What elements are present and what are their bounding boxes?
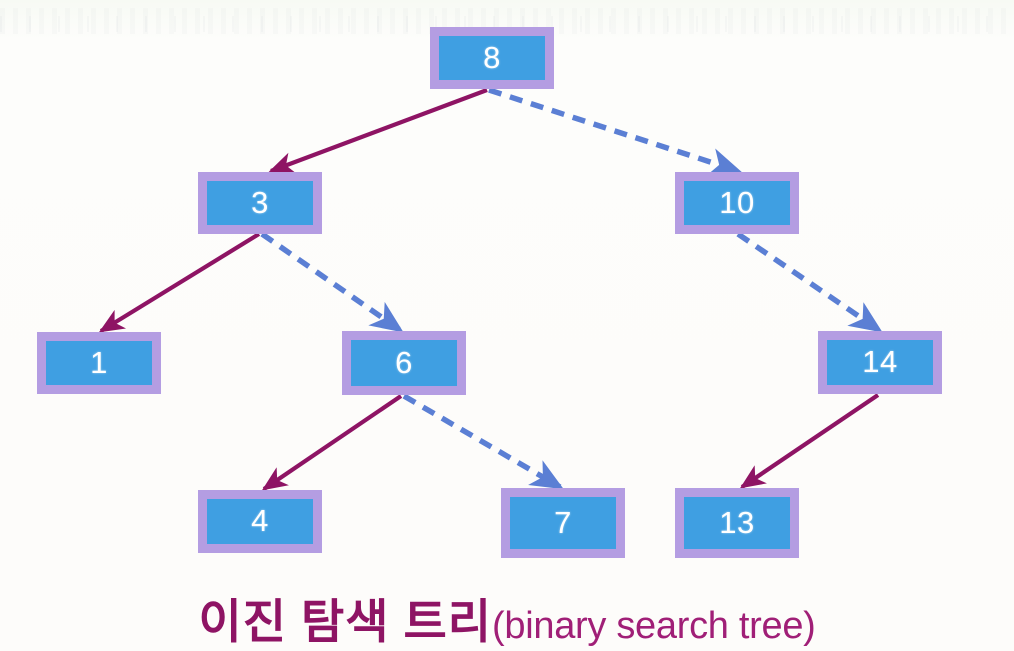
tree-node-14[interactable]: 14	[818, 331, 942, 394]
tree-edge-6-to-7	[404, 396, 560, 487]
tree-edge-6-to-4	[264, 396, 401, 489]
tree-node-13[interactable]: 13	[675, 488, 799, 558]
tree-node-8[interactable]: 8	[430, 27, 554, 89]
tree-node-label: 7	[554, 507, 572, 538]
tree-edge-3-to-1	[101, 234, 259, 331]
tree-node-7[interactable]: 7	[501, 488, 625, 558]
tree-node-label: 10	[719, 187, 754, 218]
tree-node-3[interactable]: 3	[198, 172, 322, 234]
tree-edge-10-to-14	[738, 234, 879, 330]
diagram-caption: 이진 탐색 트리(binary search tree)	[0, 583, 1014, 651]
tree-edge-8-to-10	[489, 90, 738, 171]
tree-node-label: 6	[395, 347, 413, 378]
caption-english: (binary search tree)	[492, 605, 815, 647]
tree-node-6[interactable]: 6	[342, 331, 466, 395]
tree-node-label: 8	[483, 42, 501, 73]
tree-edge-14-to-13	[742, 395, 878, 487]
tree-node-label: 4	[251, 505, 269, 536]
tree-node-label: 3	[251, 187, 269, 218]
tree-edge-3-to-6	[262, 234, 400, 330]
diagram-canvas: 831016144713 이진 탐색 트리(binary search tree…	[0, 0, 1014, 651]
tree-node-label: 1	[90, 347, 108, 378]
caption-korean: 이진 탐색 트리	[198, 595, 492, 648]
tree-node-label: 13	[719, 507, 754, 538]
tree-node-4[interactable]: 4	[198, 490, 322, 553]
tree-edge-8-to-3	[271, 90, 487, 171]
tree-node-10[interactable]: 10	[675, 172, 799, 234]
tree-node-label: 14	[862, 346, 897, 377]
tree-node-1[interactable]: 1	[37, 332, 161, 394]
